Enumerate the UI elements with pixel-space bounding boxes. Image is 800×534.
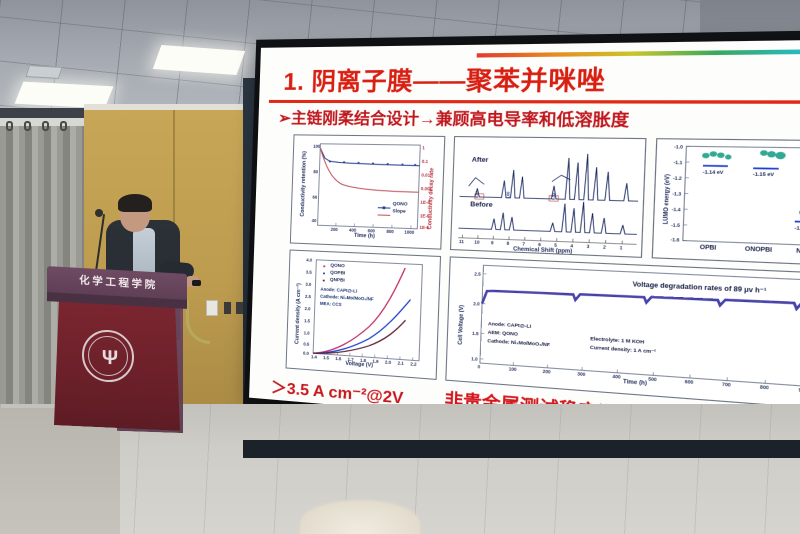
speaker-hair [118,194,152,212]
x-tick: 2.2 [410,361,416,367]
x-tick: 600 [685,379,694,385]
x-tick: 800 [760,384,769,390]
y-tick: 4.0 [306,257,312,262]
title-divider-rule [269,100,800,104]
x-tick: 1 [620,245,623,251]
x-tick: 700 [722,381,731,387]
curtain-ring [60,121,67,131]
legend-entry-qopbi: QOPBI [330,270,345,276]
x-tick: 2.1 [398,360,404,366]
x-tick: 1.8 [360,358,366,364]
microphone-head [95,209,103,217]
y-tick: 2.5 [305,294,311,299]
legend-entry-qono: QONO [330,262,345,268]
chart-lumo-energy: LUMO energy (eV) -1.0 -1.1 -1.2 -1.3 -1.… [652,138,800,267]
wall-socket[interactable] [236,302,243,314]
y-tick: 1.5 [472,331,479,337]
lumo-value-label: -1.15 eV [753,171,774,177]
y-tick: -1.0 [674,144,683,150]
x-tick: 10 [474,239,479,245]
presentation-slide: 1. 阴离子膜——聚苯并咪唑 ➢主链刚柔结合设计→兼顾高电导率和低溶胀度 [249,39,800,451]
x-tick: 1.7 [348,357,354,363]
lecture-room-photo: 1. 阴离子膜——聚苯并咪唑 ➢主链刚柔结合设计→兼顾高电导率和低溶胀度 [0,0,800,534]
integral-label: 0.52 [551,193,556,200]
y2-tick: 0.1 [422,159,428,164]
x-axis-label: Chemical Shift (ppm) [513,246,572,255]
y-tick: -1.5 [671,222,680,228]
nmr-plot-svg [451,137,647,258]
wall-socket[interactable] [224,302,231,314]
x-tick: 1.5 [323,355,329,361]
y2-tick: 1E-6 [419,225,429,231]
x-tick: 8 [506,241,509,246]
x-tick: 500 [648,376,657,382]
category-label-npbi: NPBI [796,248,800,256]
stage-front-edge [243,440,800,458]
lumo-value-label: -1.14 eV [703,169,724,175]
y-tick: 2.5 [474,271,481,277]
x-tick: 11 [459,239,464,244]
y2-tick: 0.01 [421,172,430,177]
x-tick: 1.6 [335,356,341,362]
chart-nmr-spectra: After Before 0.62 1.00 0.52 11 10 9 8 7 … [450,136,647,258]
integral-label: 0.62 [475,191,480,198]
x-tick: 100 [509,366,517,372]
x-tick: 0 [477,364,480,369]
x-tick: 9 [491,240,494,245]
slide-subtitle: ➢主链刚柔结合设计→兼顾高电导率和低溶胀度 [278,106,630,131]
x-tick: 400 [349,227,356,232]
y-tick: 1.0 [471,356,478,362]
x-axis-label: Time (h) [354,233,375,240]
y-tick: 40 [312,218,317,223]
y-tick: 80 [313,169,318,174]
projection-screen[interactable]: 1. 阴离子膜——聚苯并咪唑 ➢主链刚柔结合设计→兼顾高电导率和低溶胀度 [249,39,800,451]
x-tick: 2 [603,244,606,250]
y-tick: 1.0 [304,330,310,335]
x-tick: 1000 [404,229,414,235]
legend-entry-qnpbi: QNPBI [330,277,345,283]
y-tick: -1.2 [673,175,682,181]
y-tick: 100 [313,144,320,149]
y-tick: 1.5 [304,318,310,323]
x-tick: 600 [368,228,375,233]
legend-entry-slope: Slope [392,208,405,214]
curtain-ring [24,121,31,131]
lumo-value-label: -1.48 eV [794,225,800,231]
spectrum-label-after: After [472,156,489,164]
x-tick: 400 [612,374,621,380]
y-tick: 2.0 [473,301,480,307]
y-tick: -1.4 [672,207,681,213]
x-tick: 1.4 [311,354,317,360]
emblem-glyph: Ψ [98,345,122,372]
x-tick: 1.9 [372,359,378,365]
x-tick: 200 [543,369,551,375]
y-tick: 3.5 [306,269,312,274]
y-tick: 60 [312,195,317,200]
y-tick: 0.0 [303,350,309,355]
x-tick: 300 [577,371,585,377]
spectrum-label-before: Before [470,201,493,209]
slide-title: 1. 阴离子膜——聚苯并咪唑 [283,56,800,97]
lumo-plot-svg [653,139,800,266]
presentation-clicker[interactable] [192,280,201,286]
y-tick: -1.6 [670,237,679,243]
category-label-onopbi: ONOPBI [745,246,772,254]
y-tick: 3.0 [305,282,311,287]
x-tick: 200 [331,227,338,232]
y2-tick: 0.001 [421,186,432,192]
y-tick: 0.5 [303,341,309,346]
category-label-opbi: OPBI [700,245,717,252]
y-tick: -1.3 [672,191,681,197]
y-tick: -1.1 [673,160,682,166]
x-tick: 3 [587,244,590,250]
y2-tick: 1E-5 [420,213,430,219]
x-tick: 2.0 [385,359,391,365]
curtain-ring [6,121,13,131]
chart-conductivity-stability: Conductivity retention (%) Conductivity … [290,134,446,249]
legend-entry-qono: QONO [393,201,408,207]
curtain-ring [42,121,49,131]
y2-tick: 1 [422,145,425,150]
y2-tick: 1E-4 [420,200,430,206]
chart-polarization-curves: Current density (A cm⁻²) Voltage (V) 4.0… [286,249,442,379]
y-tick: 2.0 [305,306,311,311]
x-tick: 800 [386,229,394,234]
ceiling-vent [25,65,62,79]
integral-label: 1.00 [506,192,511,199]
